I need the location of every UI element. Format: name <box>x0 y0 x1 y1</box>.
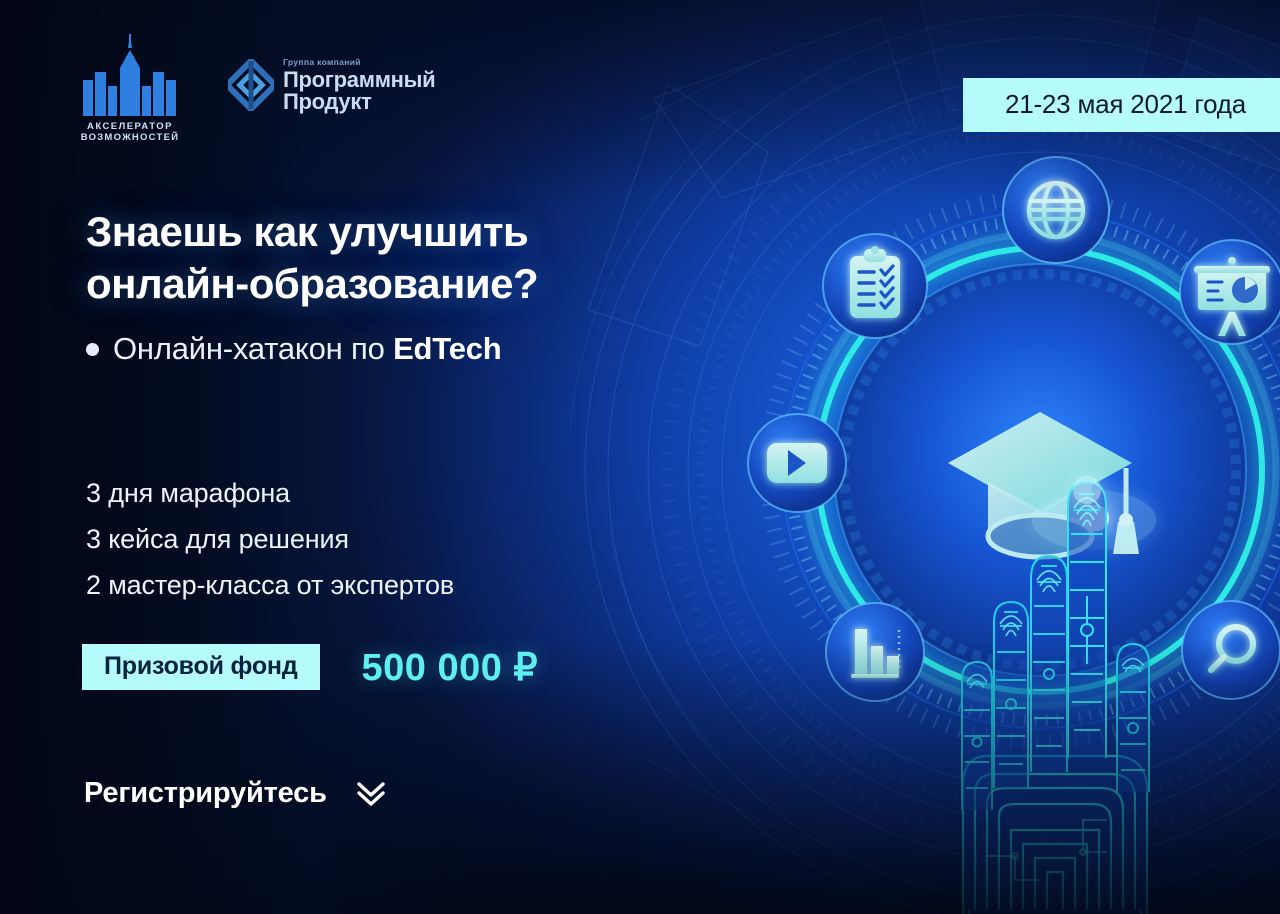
headline-line-1: Знаешь как улучшить <box>86 208 528 255</box>
logo-accelerator-line2: ВОЗМОЖНОСТЕЙ <box>81 132 180 143</box>
bar-chart-icon <box>826 603 924 701</box>
poster-canvas: 21-23 мая 2021 года <box>0 0 1280 914</box>
list-item: 3 дня марафона <box>86 470 454 516</box>
register-cta[interactable]: Регистрируйтесь <box>84 776 391 810</box>
globe-icon <box>1003 157 1109 263</box>
prize-amount: 500 000 ₽ <box>362 645 539 690</box>
list-item: 3 кейса для решения <box>86 516 454 562</box>
logo-programmny-produkt: Группа компаний Программный Продукт <box>228 58 435 113</box>
logo-row: АКСЕЛЕРАТОР ВОЗМОЖНОСТЕЙ Группа компаний… <box>78 34 435 143</box>
video-player-icon <box>748 414 846 512</box>
msu-building-icon <box>78 34 182 116</box>
digital-pointing-hand-icon <box>962 476 1149 914</box>
clipboard-checklist-icon <box>823 234 927 338</box>
register-label: Регистрируйтесь <box>84 777 327 810</box>
subtitle-row: Онлайн-хатакон по EdTech <box>86 330 502 368</box>
subtitle-strong: EdTech <box>393 331 501 366</box>
graduation-cap-icon <box>948 412 1139 558</box>
logo-pp-line1: Программный <box>283 69 435 91</box>
bullet-dot-icon <box>86 343 99 356</box>
subtitle-prefix: Онлайн-хатакон по <box>113 331 393 366</box>
prize-row: Призовой фонд 500 000 ₽ <box>82 644 538 690</box>
list-item: 2 мастер-класса от экспертов <box>86 562 454 608</box>
presentation-chart-icon <box>1180 240 1280 344</box>
date-badge: 21-23 мая 2021 года <box>963 78 1280 132</box>
subtitle-text: Онлайн-хатакон по EdTech <box>113 330 502 368</box>
logo-pp-line2: Продукт <box>283 91 435 113</box>
facts-list: 3 дня марафона 3 кейса для решения 2 мас… <box>86 470 454 608</box>
page-title: Знаешь как улучшить онлайн-образование? <box>86 206 686 310</box>
logo-accelerator: АКСЕЛЕРАТОР ВОЗМОЖНОСТЕЙ <box>78 34 182 143</box>
logo-pp-eyebrow: Группа компаний <box>283 58 435 67</box>
search-icon <box>1182 601 1280 699</box>
logo-accelerator-line1: АКСЕЛЕРАТОР <box>81 121 180 132</box>
prize-fund-badge: Призовой фонд <box>82 644 320 690</box>
headline-line-2: онлайн-образование? <box>86 260 538 307</box>
rhombus-logo-icon <box>228 59 274 111</box>
double-chevron-down-icon[interactable] <box>351 776 391 810</box>
